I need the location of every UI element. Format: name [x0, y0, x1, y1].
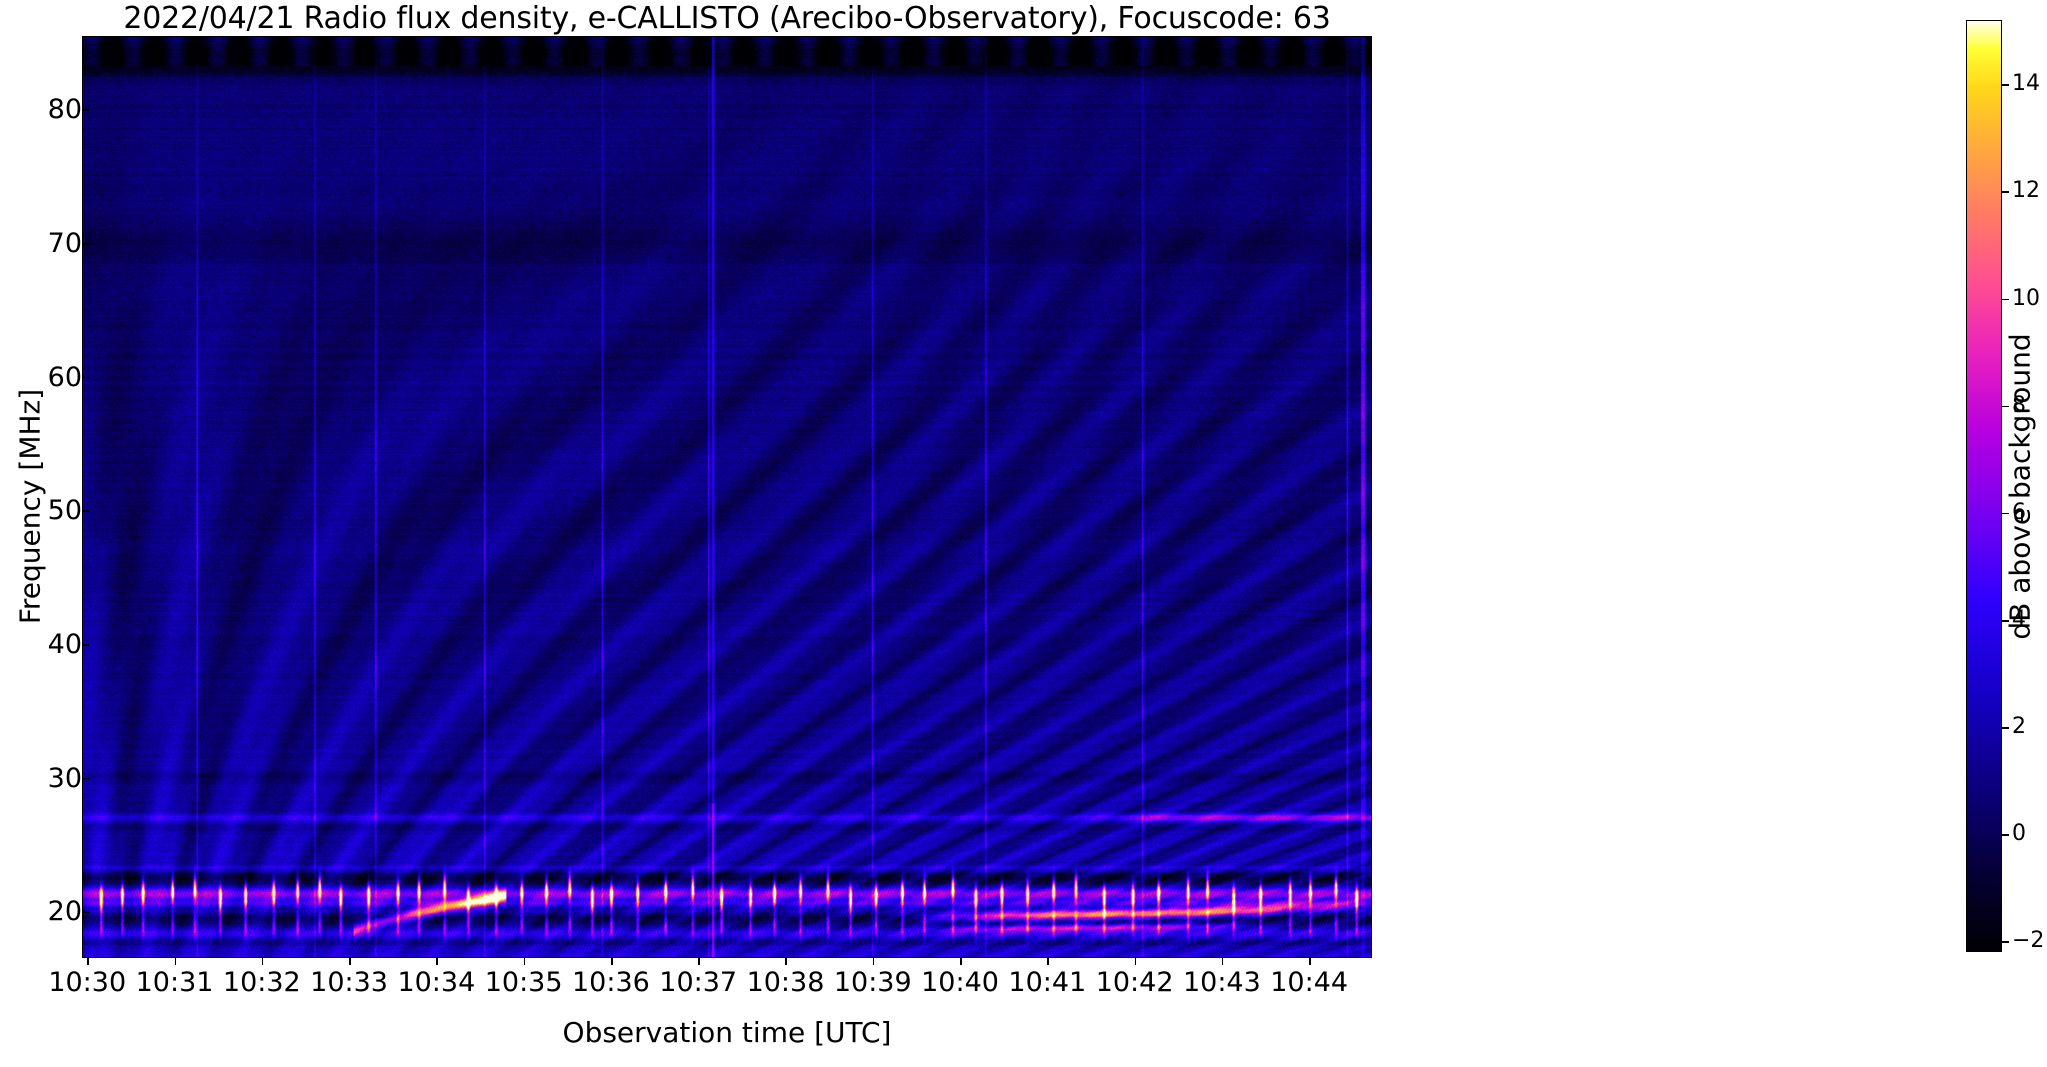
x-tick-mark [1047, 958, 1049, 965]
x-tick-mark [262, 958, 264, 965]
colorbar-label: dB above background [2004, 207, 2037, 767]
y-tick-mark [82, 644, 89, 646]
x-tick-label: 10:44 [1244, 968, 1374, 998]
page-title: 2022/04/21 Radio flux density, e-CALLIST… [82, 2, 1372, 36]
x-tick-mark [349, 958, 351, 965]
colorbar-tick-label: −2 [2012, 930, 2044, 952]
spectrogram-plot-area[interactable] [82, 36, 1372, 958]
spectrogram-image [83, 37, 1371, 957]
y-tick-mark [82, 778, 89, 780]
colorbar-label-wrap: dB above background [2000, 200, 2040, 760]
x-tick-mark [611, 958, 613, 965]
x-tick-mark [698, 958, 700, 965]
y-tick-mark [82, 911, 89, 913]
x-tick-mark [87, 958, 89, 965]
x-tick-mark [960, 958, 962, 965]
colorbar-tick-label: 0 [2012, 823, 2026, 845]
x-tick-mark [524, 958, 526, 965]
colorbar-tick-label: 14 [2012, 73, 2040, 95]
x-tick-mark [1135, 958, 1137, 965]
x-tick-mark [1309, 958, 1311, 965]
colorbar-tick-mark [2002, 941, 2009, 943]
y-axis-ticks [82, 36, 90, 958]
x-axis-label: Observation time [UTC] [82, 1016, 1372, 1049]
y-tick-mark [82, 377, 89, 379]
colorbar-tick-mark [2002, 191, 2009, 193]
x-axis: 10:3010:3110:3210:3310:3410:3510:3610:37… [82, 958, 1372, 1008]
y-tick-mark [82, 243, 89, 245]
y-axis-label-wrap: Frequency [MHz] [10, 60, 50, 920]
x-tick-mark [175, 958, 177, 965]
x-tick-mark [436, 958, 438, 965]
colorbar-tick-mark [2002, 834, 2009, 836]
x-tick-mark [785, 958, 787, 965]
y-axis-label: Frequency [MHz] [14, 297, 47, 717]
y-tick-mark [82, 109, 89, 111]
y-tick-mark [82, 510, 89, 512]
spectrogram-figure: 2022/04/21 Radio flux density, e-CALLIST… [0, 0, 2047, 1067]
x-tick-mark [1222, 958, 1224, 965]
colorbar-tick-mark [2002, 84, 2009, 86]
x-tick-mark [873, 958, 875, 965]
